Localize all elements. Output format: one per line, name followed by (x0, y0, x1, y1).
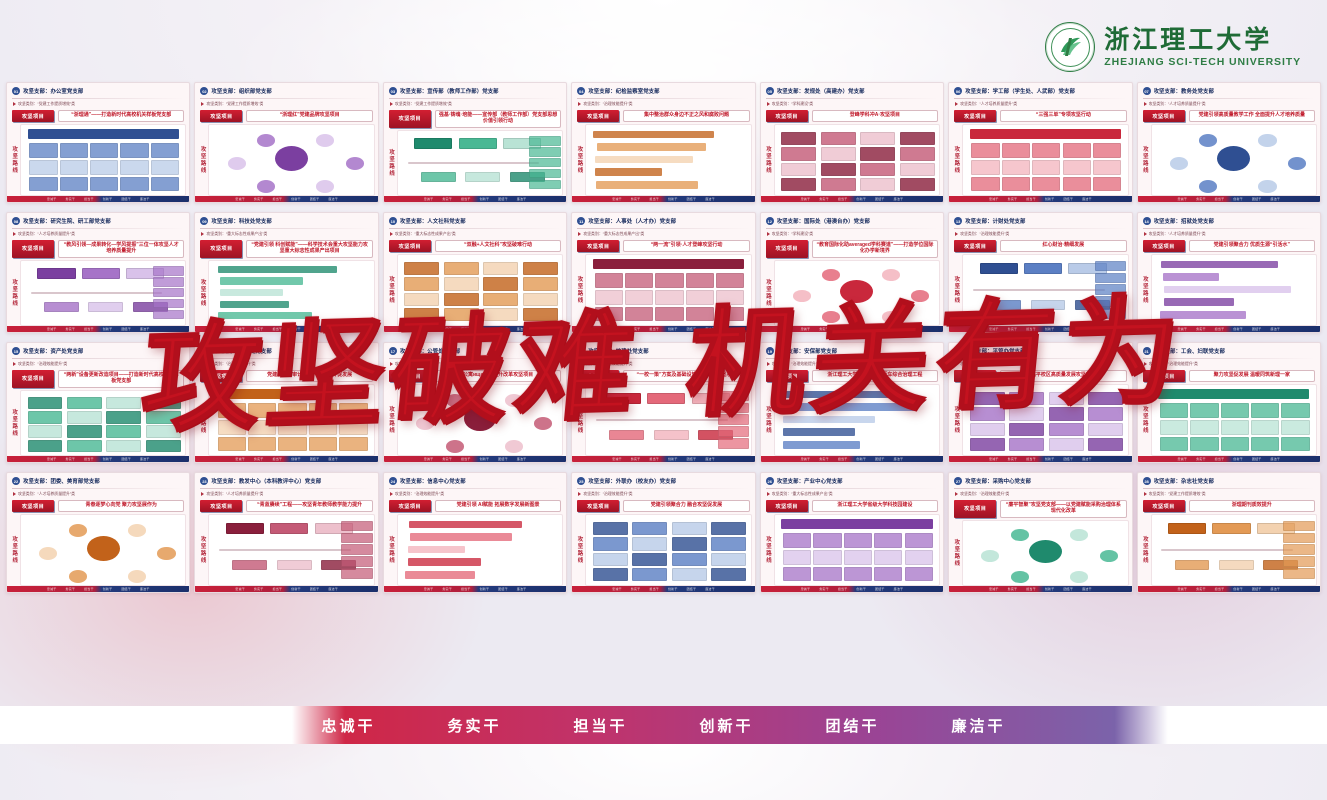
card-project-title: “浙理通”——打造新时代高校机关样板党支部 (58, 110, 184, 122)
slogan-item: 创新干 (700, 715, 754, 736)
project-button[interactable]: 攻坚项目 (577, 240, 619, 252)
diagram-node (1168, 523, 1206, 534)
route-label: 攻坚路线 (763, 124, 772, 196)
card-category-tag: 攻坚类别：“治理效能提升”类 (583, 491, 632, 497)
card-footer-strip: 忠诚干务实干担当干创新干团结干廉洁干 (384, 326, 566, 332)
footer-strip-item: 创新干 (103, 327, 113, 331)
diagram-node (1032, 143, 1060, 158)
card-category-tag: 攻坚类别：“学科建设”类 (772, 231, 814, 237)
diagram-node (1100, 550, 1118, 562)
diagram-node (146, 397, 181, 409)
footer-strip-item: 廉洁干 (328, 197, 338, 201)
card-diagram (1151, 254, 1317, 326)
project-button[interactable]: 攻坚项目 (200, 110, 242, 122)
card-footer-strip: 忠诚干务实干担当干创新干团结干廉洁干 (7, 586, 189, 592)
footer-strip-item: 务实干 (442, 197, 452, 201)
footer-strip-item: 团结干 (875, 457, 885, 461)
card-branch-title: 攻坚支部：学工部（学生处、人武部）党支部 (965, 87, 1075, 95)
route-label: 攻坚路线 (951, 124, 960, 196)
card-branch-title: 攻坚支部：办公室党支部 (23, 87, 83, 95)
diagram-node (1190, 403, 1218, 418)
footer-strip-item: 务实干 (1008, 327, 1018, 331)
card-diagram (208, 124, 374, 196)
project-button[interactable]: 攻坚项目 (766, 370, 808, 382)
slogan-item: 团结干 (826, 715, 880, 736)
project-button[interactable]: 攻坚项目 (12, 240, 54, 258)
card-diagram (585, 124, 751, 196)
poster-card[interactable]: 27 攻坚支部：采购中心党支部 攻坚类别：“治理效能提升”类 攻坚项目 “廉平智… (948, 472, 1132, 593)
diagram-node (970, 129, 1121, 139)
diagram-node (821, 178, 856, 191)
poster-card[interactable]: 23 攻坚支部：教发中心（本科教评中心）党支部 攻坚类别：“人才培养质量提升”类… (194, 472, 378, 593)
card-number-badge: 14 (1143, 217, 1151, 225)
diagram-node (625, 273, 653, 288)
diagram-node (69, 570, 87, 583)
project-button[interactable]: 攻坚项目 (389, 240, 431, 252)
footer-strip-item: 务实干 (254, 327, 264, 331)
footer-strip-item: 担当干 (84, 327, 94, 331)
diagram-node (1032, 177, 1060, 192)
card-body: 攻坚路线 (384, 382, 566, 456)
card-header: 13 攻坚支部：计财处党支部 攻坚类别：“治理效能提升”类 攻坚项目 红心财治·… (949, 213, 1131, 252)
poster-card[interactable]: 24 攻坚支部：信息中心党支部 攻坚类别：“治理效能提升”类 攻坚项目 党建引领… (383, 472, 567, 593)
card-diagram (208, 260, 374, 326)
footer-strip-item: 团结干 (687, 327, 697, 331)
slogan-item: 担当干 (573, 715, 627, 736)
diagram-node (1283, 521, 1315, 531)
card-diagram (1151, 124, 1317, 196)
card-divider (389, 98, 561, 99)
diagram-node (981, 550, 999, 562)
diagram-node (1199, 134, 1217, 147)
footer-strip-item: 务实干 (819, 327, 829, 331)
diagram-node (1158, 389, 1309, 399)
card-number-badge: 25 (577, 477, 585, 485)
card-header: 10 攻坚支部：人文社科党支部 攻坚类别：“重大标志性成果产出”类 攻坚项目 “… (384, 213, 566, 252)
card-divider (954, 228, 1126, 229)
diagram-node (1164, 286, 1290, 294)
card-project-title: “教风引领—成果转化—学风提振”三位一体攻坚人才培养质量提升 (58, 240, 184, 258)
diagram-node (529, 180, 561, 190)
diagram-node (844, 533, 872, 548)
diagram-node (120, 160, 148, 175)
diagram-node (1049, 423, 1084, 436)
card-body: 攻坚路线 (572, 122, 754, 196)
card-branch-title: 攻坚支部：杂志社党支部 (1154, 477, 1214, 485)
footer-strip-item: 担当干 (461, 197, 471, 201)
diagram-node (822, 269, 840, 281)
card-project-title: “浙理红”党建品牌攻坚项目 (246, 110, 372, 122)
diagram-node (220, 301, 289, 308)
footer-strip-item: 忠诚干 (801, 457, 811, 461)
card-project-title: “一校一策”方案及基础设施提质工程攻坚项目 (623, 370, 749, 382)
project-button[interactable]: 攻坚项目 (766, 500, 808, 512)
card-number-badge: 16 (200, 347, 208, 355)
footer-strip-item: 务实干 (1196, 457, 1206, 461)
poster-card[interactable]: 21 攻坚支部：工会、妇联党支部 攻坚类别：“治理效能提升”类 攻坚项目 聚力攻… (1137, 342, 1321, 463)
diagram-node (781, 519, 932, 529)
card-header: 14 攻坚支部：招就处党支部 攻坚类别：“人才培养质量提升”类 攻坚项目 党建引… (1138, 213, 1320, 252)
diagram-node (67, 440, 102, 452)
card-number-badge: 23 (200, 477, 208, 485)
footer-strip-item: 担当干 (1215, 327, 1225, 331)
footer-strip-item: 务实干 (442, 587, 452, 591)
footer-strip-item: 忠诚干 (612, 197, 622, 201)
footer-strip-item: 担当干 (273, 327, 283, 331)
card-divider (1143, 358, 1315, 359)
card-header: 03 攻坚支部：宣传部（教师工作部）党支部 攻坚类别：“党建工作提质增效”类 攻… (384, 83, 566, 128)
diagram-node (44, 302, 79, 312)
diagram-node (128, 524, 146, 537)
diagram-node (1160, 420, 1188, 435)
diagram-node (1002, 160, 1030, 175)
bullet-triangle-icon (390, 102, 393, 106)
card-diagram (1151, 384, 1317, 456)
footer-strip-item: 忠诚干 (235, 197, 245, 201)
diagram-node (1283, 533, 1315, 543)
diagram-node (346, 157, 364, 170)
poster-card[interactable]: 03 攻坚支部：宣传部（教师工作部）党支部 攻坚类别：“党建工作提质增效”类 攻… (383, 82, 567, 203)
footer-strip-item: 团结干 (310, 587, 320, 591)
card-category-tag: 攻坚类别：“治理效能提升”类 (395, 491, 444, 497)
diagram-node (404, 308, 439, 321)
diagram-node (405, 571, 475, 579)
diagram-node (28, 397, 63, 409)
footer-strip-item: 务实干 (65, 587, 75, 591)
diagram-node (444, 308, 479, 321)
footer-strip-item: 团结干 (121, 327, 131, 331)
card-category-tag: 攻坚类别：“人才培养质量提升”类 (1149, 231, 1206, 237)
poster-card[interactable]: 09 攻坚支部：科技处党支部 攻坚类别：“重大标志性成果产出”类 攻坚项目 “党… (194, 212, 378, 333)
diagram-node (718, 426, 750, 436)
diagram-node (410, 533, 512, 541)
diagram-node (781, 147, 816, 160)
card-body: 攻坚路线 (572, 382, 754, 456)
diagram-node (596, 419, 728, 421)
project-button[interactable]: 攻坚项目 (766, 240, 808, 258)
bullet-triangle-icon (955, 102, 958, 106)
diagram-node (711, 522, 746, 535)
diagram-node (783, 441, 861, 449)
bullet-triangle-icon (578, 232, 581, 236)
poster-card[interactable]: 19 攻坚支部：安保部党支部 攻坚类别：“治理效能提升”类 攻坚项目 浙江理工大… (760, 342, 944, 463)
card-footer-strip: 忠诚干务实干担当干创新干团结干廉洁干 (572, 196, 754, 202)
footer-strip-item: 忠诚干 (989, 197, 999, 201)
footer-strip-item: 务实干 (1196, 197, 1206, 201)
diagram-node (986, 300, 1021, 310)
card-divider (389, 358, 561, 359)
bullet-triangle-icon (955, 232, 958, 236)
footer-strip-item: 团结干 (687, 587, 697, 591)
diagram-node (1088, 423, 1123, 436)
project-button[interactable]: 攻坚项目 (200, 500, 242, 512)
diagram-node (218, 312, 312, 319)
card-divider (389, 488, 561, 489)
project-button[interactable]: 攻坚项目 (577, 110, 619, 122)
diagram-node (87, 536, 120, 561)
project-button[interactable]: 攻坚项目 (954, 500, 996, 518)
project-button[interactable]: 攻坚项目 (389, 500, 431, 512)
project-button[interactable]: 攻坚项目 (954, 370, 996, 382)
project-button[interactable]: 攻坚项目 (12, 110, 54, 122)
poster-card[interactable]: 12 攻坚支部：国际处（港澳台办）党支部 攻坚类别：“学科建设”类 攻坚项目 “… (760, 212, 944, 333)
footer-strip-item: 忠诚干 (989, 587, 999, 591)
footer-strip-item: 创新干 (103, 457, 113, 461)
card-divider (12, 358, 184, 359)
card-category-tag: 攻坚类别：“治理效能提升”类 (583, 361, 632, 367)
footer-strip-item: 忠诚干 (1177, 457, 1187, 461)
diagram-node (625, 290, 653, 305)
project-button[interactable]: 攻坚项目 (1143, 240, 1185, 252)
card-branch-title: 攻坚支部：信息中心党支部 (400, 477, 466, 485)
diagram-node (711, 553, 746, 566)
footer-strip-item: 忠诚干 (47, 197, 57, 201)
footer-strip-item: 担当干 (838, 327, 848, 331)
footer-strip-item: 创新干 (480, 197, 490, 201)
poster-card[interactable]: 18 攻坚支部：校建处党支部 攻坚类别：“治理效能提升”类 攻坚项目 “一校一策… (571, 342, 755, 463)
footer-strip-item: 团结干 (875, 587, 885, 591)
poster-card[interactable]: 22 攻坚支部：团委、美育部党支部 攻坚类别：“人才培养质量提升”类 攻坚项目 … (6, 472, 190, 593)
footer-strip-item: 廉洁干 (894, 587, 904, 591)
poster-card[interactable]: 17 攻坚支部：公管处党支部 攻坚类别：“治理效能提升”类 攻坚项目 公寓ища… (383, 342, 567, 463)
card-branch-title: 攻坚支部：招就处党支部 (1154, 217, 1214, 225)
footer-strip-item: 创新干 (1233, 197, 1243, 201)
bullet-triangle-icon (578, 362, 581, 366)
footer-strip-item: 廉洁干 (140, 197, 150, 201)
poster-card[interactable]: 15 攻坚支部：资产处党支部 攻坚类别：“治理效能提升”类 攻坚项目 “两新”设… (6, 342, 190, 463)
footer-strip-item: 担当干 (649, 327, 659, 331)
bullet-triangle-icon (201, 362, 204, 366)
card-header: 12 攻坚支部：国际处（港澳台办）党支部 攻坚类别：“学科建设”类 攻坚项目 “… (761, 213, 943, 258)
poster-card[interactable]: 16 攻坚支部：审计处党支部 攻坚类别：“治理效能提升”类 攻坚项目 党建引领、… (194, 342, 378, 463)
footer-strip-item: 创新干 (668, 197, 678, 201)
diagram-node (1009, 438, 1044, 451)
university-name-en: ZHEJIANG SCI-TECH UNIVERSITY (1104, 57, 1301, 68)
card-divider (200, 358, 372, 359)
diagram-node (483, 308, 518, 321)
project-button[interactable]: 攻坚项目 (577, 370, 619, 382)
footer-strip-item: 务实干 (254, 587, 264, 591)
poster-card[interactable]: 08 攻坚支部：研究生院、研工部党支部 攻坚类别：“人才培养质量提升”类 攻坚项… (6, 212, 190, 333)
diagram-node (151, 160, 179, 175)
project-button[interactable]: 攻坚项目 (1143, 370, 1185, 382)
footer-strip-item: 担当干 (1026, 457, 1036, 461)
card-divider (200, 98, 372, 99)
card-number-badge: 21 (1143, 347, 1151, 355)
diagram-node (1283, 568, 1315, 578)
footer-strip-item: 团结干 (1063, 587, 1073, 591)
poster-card[interactable]: 04 攻坚支部：纪检监察室党支部 攻坚类别：“治理效能提升”类 攻坚项目 集中整… (571, 82, 755, 203)
card-project-title: 临平校区高质量发展攻坚行动 (1000, 370, 1126, 382)
footer-strip-item: 团结干 (687, 197, 697, 201)
card-branch-title: 攻坚支部：资产处党支部 (23, 347, 83, 355)
diagram-node (82, 268, 120, 278)
footer-strip-item: 忠诚干 (801, 197, 811, 201)
footer-strip-item: 忠诚干 (612, 587, 622, 591)
card-header: 21 攻坚支部：工会、妇联党支部 攻坚类别：“治理效能提升”类 攻坚项目 聚力攻… (1138, 343, 1320, 382)
card-divider (954, 488, 1126, 489)
card-body: 攻坚路线 (949, 518, 1131, 586)
diagram-node (409, 521, 521, 529)
footer-strip-item: 廉洁干 (1082, 327, 1092, 331)
footer-strip-item: 担当干 (84, 587, 94, 591)
poster-card[interactable]: 13 攻坚支部：计财处党支部 攻坚类别：“治理效能提升”类 攻坚项目 红心财治·… (948, 212, 1132, 333)
card-category-tag: 攻坚类别：“重大标志性成果产出”类 (206, 231, 267, 237)
diagram-node (844, 550, 872, 565)
diagram-node (1251, 420, 1279, 435)
footer-strip-item: 团结干 (1252, 457, 1262, 461)
poster-card[interactable]: 28 攻坚支部：杂志社党支部 攻坚类别：“党建工作提质增效”类 攻坚项目 浙理期… (1137, 472, 1321, 593)
card-diagram (962, 124, 1128, 196)
footer-strip-item: 担当干 (649, 457, 659, 461)
card-diagram (20, 514, 186, 586)
card-header: 28 攻坚支部：杂志社党支部 攻坚类别：“党建工作提质增效”类 攻坚项目 浙理期… (1138, 473, 1320, 512)
project-button[interactable]: 攻坚项目 (200, 370, 242, 382)
footer-strip-item: 团结干 (1252, 197, 1262, 201)
diagram-node (106, 397, 141, 409)
footer-strip-item: 务实干 (1008, 197, 1018, 201)
diagram-node (1175, 560, 1210, 570)
bullet-triangle-icon (955, 362, 958, 366)
diagram-node (781, 132, 816, 145)
bullet-triangle-icon (1144, 362, 1147, 366)
card-project-title: 党建引领 AI赋能 拓展数字发展新图景 (435, 500, 561, 512)
footer-strip-item: 务实干 (631, 587, 641, 591)
diagram-node (1002, 177, 1030, 192)
card-project-title: “双融+人文社科”攻坚破难行动 (435, 240, 561, 252)
diagram-node (278, 420, 306, 435)
route-label: 攻坚路线 (574, 514, 583, 586)
card-header: 09 攻坚支部：科技处党支部 攻坚类别：“重大标志性成果产出”类 攻坚项目 “党… (195, 213, 377, 258)
diagram-node (1095, 284, 1127, 294)
diagram-node (529, 169, 561, 179)
card-divider (954, 358, 1126, 359)
poster-card[interactable]: 10 攻坚支部：人文社科党支部 攻坚类别：“重大标志性成果产出”类 攻坚项目 “… (383, 212, 567, 333)
footer-strip-item: 廉洁干 (140, 587, 150, 591)
footer-strip-item: 创新干 (1045, 587, 1055, 591)
diagram-node (632, 553, 667, 566)
poster-card[interactable]: 11 攻坚支部：人事处（人才办）党支部 攻坚类别：“重大标志性成果产出”类 攻坚… (571, 212, 755, 333)
project-button[interactable]: 攻坚项目 (12, 500, 54, 512)
diagram-node (1258, 180, 1276, 193)
card-footer-strip: 忠诚干务实干担当干创新干团结干廉洁干 (572, 456, 754, 462)
card-diagram (962, 254, 1128, 326)
project-button[interactable]: 攻坚项目 (389, 110, 431, 128)
card-branch-title: 攻坚支部：校建处党支部 (588, 347, 648, 355)
card-footer-strip: 忠诚干务实干担当干创新干团结干廉洁干 (384, 196, 566, 202)
card-project-title: 浙江理工大学校园电动自行车综合治理工程 (812, 370, 938, 382)
diagram-node (414, 138, 452, 148)
project-button[interactable]: 攻坚项目 (200, 240, 242, 258)
diagram-node (90, 177, 118, 192)
poster-card[interactable]: 05 攻坚支部：发规处（高建办）党支部 攻坚类别：“学科建设”类 攻坚项目 登峰… (760, 82, 944, 203)
poster-card[interactable]: 25 攻坚支部：外联办（校友办）党支部 攻坚类别：“治理效能提升”类 攻坚项目 … (571, 472, 755, 593)
card-body: 攻坚路线 (949, 382, 1131, 456)
footer-strip-item: 忠诚干 (424, 457, 434, 461)
card-divider (1143, 98, 1315, 99)
diagram-node (596, 181, 698, 189)
poster-card[interactable]: 02 攻坚支部：组织部党支部 攻坚类别：“党建工作提质增效”类 攻坚项目 “浙理… (194, 82, 378, 203)
footer-strip-item: 务实干 (1008, 457, 1018, 461)
diagram-node (465, 172, 500, 182)
card-project-title: 党建引领聚合力 融合攻坚促发展 (623, 500, 749, 512)
route-label: 攻坚路线 (763, 260, 772, 326)
diagram-node (686, 290, 714, 305)
diagram-node (90, 160, 118, 175)
diagram-node (1283, 544, 1315, 554)
footer-strip-item: 廉洁干 (517, 327, 527, 331)
diagram-node (593, 131, 714, 139)
card-category-tag: 攻坚类别：“人才培养质量提升”类 (18, 491, 75, 497)
project-button[interactable]: 攻坚项目 (954, 110, 996, 122)
card-diagram (774, 514, 940, 586)
card-divider (766, 98, 938, 99)
card-branch-title: 攻坚支部：组织部党支部 (211, 87, 271, 95)
diagram-node (339, 437, 367, 452)
diagram-node (718, 391, 750, 401)
diagram-node (1221, 403, 1249, 418)
poster-card[interactable]: 07 攻坚支部：教务处党支部 攻坚类别：“人才培养质量提升”类 攻坚项目 党建引… (1137, 82, 1321, 203)
footer-strip-item: 忠诚干 (235, 457, 245, 461)
diagram-node (151, 143, 179, 158)
project-button[interactable]: 攻坚项目 (1143, 110, 1185, 122)
poster-card[interactable]: 20 攻坚支部：平管办党支部 攻坚类别：“治理效能提升”类 攻坚项目 临平校区高… (948, 342, 1132, 463)
diagram-node (595, 156, 693, 164)
project-button[interactable]: 攻坚项目 (1143, 500, 1185, 512)
card-body: 攻坚路线 (761, 258, 943, 326)
diagram-node (970, 407, 1005, 420)
poster-card[interactable]: 06 攻坚支部：学工部（学生处、人武部）党支部 攻坚类别：“人才培养质量提升”类… (948, 82, 1132, 203)
diagram-node (1160, 403, 1188, 418)
diagram-node (278, 403, 306, 418)
diagram-node (1063, 160, 1091, 175)
diagram-node (821, 163, 856, 176)
project-button[interactable]: 攻坚项目 (12, 370, 54, 388)
diagram-node (151, 177, 179, 192)
bullet-triangle-icon (390, 362, 393, 366)
footer-strip-item: 创新干 (1045, 457, 1055, 461)
diagram-node (860, 147, 895, 160)
poster-card[interactable]: 01 攻坚支部：办公室党支部 攻坚类别：“党建工作提质增效”类 攻坚项目 “浙理… (6, 82, 190, 203)
diagram-node (595, 168, 662, 176)
diagram-node (446, 440, 464, 453)
poster-card[interactable]: 14 攻坚支部：招就处党支部 攻坚类别：“人才培养质量提升”类 攻坚项目 党建引… (1137, 212, 1321, 333)
card-footer-strip: 忠诚干务实干担当干创新干团结干廉洁干 (195, 326, 377, 332)
card-branch-title: 攻坚支部：公管处党支部 (400, 347, 460, 355)
card-category-tag: 攻坚类别：“重大标志性成果产出”类 (772, 491, 833, 497)
card-header: 15 攻坚支部：资产处党支部 攻坚类别：“治理效能提升”类 攻坚项目 “两新”设… (7, 343, 189, 388)
diagram-node (813, 567, 841, 582)
project-button[interactable]: 攻坚项目 (766, 110, 808, 122)
project-button[interactable]: 攻坚项目 (954, 240, 996, 252)
diagram-node (270, 523, 308, 534)
card-body: 攻坚路线 (1138, 252, 1320, 326)
footer-strip-item: 担当干 (1026, 327, 1036, 331)
card-header: 04 攻坚支部：纪检监察室党支部 攻坚类别：“治理效能提升”类 攻坚项目 集中整… (572, 83, 754, 122)
project-button[interactable]: 攻坚项目 (577, 500, 619, 512)
poster-card[interactable]: 26 攻坚支部：产业中心党支部 攻坚类别：“重大标志性成果产出”类 攻坚项目 浙… (760, 472, 944, 593)
card-diagram (774, 260, 940, 326)
footer-strip-item: 创新干 (856, 587, 866, 591)
diagram-node (28, 425, 63, 437)
footer-strip-item: 团结干 (498, 457, 508, 461)
project-button[interactable]: 攻坚项目 (389, 370, 431, 382)
diagram-node (153, 266, 185, 276)
card-footer-strip: 忠诚干务实干担当干创新干团结干廉洁干 (1138, 456, 1320, 462)
card-diagram (774, 124, 940, 196)
card-divider (766, 358, 938, 359)
diagram-node (483, 262, 518, 275)
